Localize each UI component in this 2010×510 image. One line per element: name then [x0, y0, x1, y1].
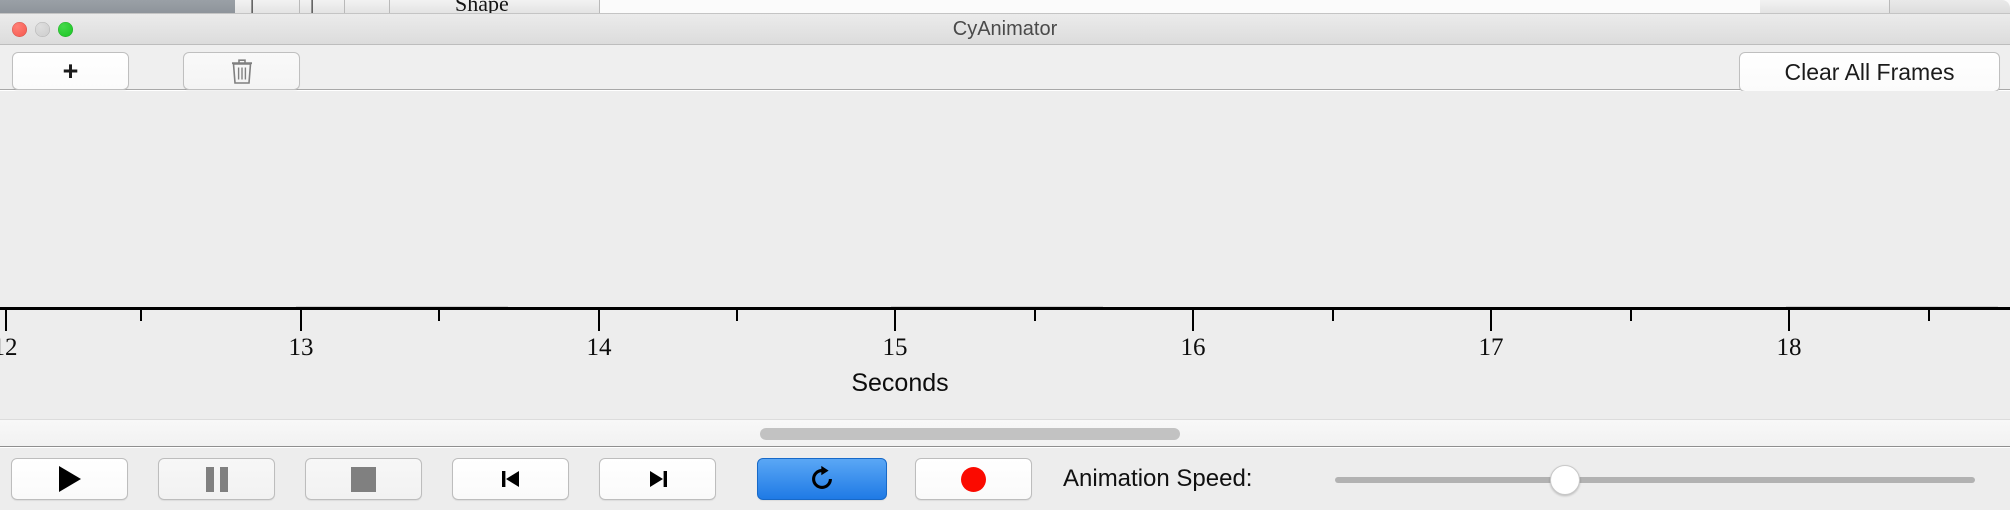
loop-button[interactable] — [757, 458, 887, 500]
axis-tick-label: 12 — [0, 334, 18, 362]
axis-tick-major — [5, 310, 7, 331]
slider-track[interactable] — [1335, 477, 1975, 483]
plus-icon: + — [63, 58, 79, 85]
axis-tick-label: 15 — [883, 334, 908, 362]
title-bar: CyAnimator — [0, 14, 2010, 45]
axis-tick-label: 13 — [289, 334, 314, 362]
background-glyph: | — [250, 0, 254, 14]
skip-start-button[interactable] — [452, 458, 569, 500]
axis-tick-label: 17 — [1479, 334, 1504, 362]
pause-icon — [206, 467, 228, 492]
clear-all-frames-button[interactable]: Clear All Frames — [1739, 52, 2000, 92]
play-icon — [59, 466, 81, 492]
window-title: CyAnimator — [0, 14, 2010, 45]
background-glyph: | — [310, 0, 314, 14]
record-button[interactable] — [915, 458, 1032, 500]
background-window-dark-panel — [0, 0, 235, 14]
add-frame-button[interactable]: + — [12, 52, 129, 90]
axis-tick-label: 14 — [587, 334, 612, 362]
animation-speed-label: Animation Speed: — [1063, 458, 1252, 500]
stop-icon — [351, 467, 376, 492]
scrollbar-thumb[interactable] — [760, 428, 1180, 440]
axis-tick-minor — [1332, 310, 1334, 321]
background-window-corner — [1890, 0, 2010, 14]
playback-toolbar: Animation Speed: — [0, 448, 2010, 510]
play-button[interactable] — [11, 458, 128, 500]
background-tab — [235, 0, 300, 14]
timeline-scrollbar[interactable] — [0, 419, 2010, 447]
axis-tick-major — [1192, 310, 1194, 331]
timeline-axis: 12 13 14 15 16 17 18 Seconds — [0, 307, 2010, 419]
slider-thumb[interactable] — [1550, 465, 1580, 495]
axis-tick-major — [1788, 310, 1790, 331]
record-icon — [961, 467, 986, 492]
skip-end-button[interactable] — [599, 458, 716, 500]
axis-tick-major — [598, 310, 600, 331]
cyanimator-window: | | Shape CyAnimator + Clear All Fr — [0, 0, 2010, 510]
background-tab — [1760, 0, 1890, 14]
axis-tick-label: 18 — [1777, 334, 1802, 362]
axis-tick-minor — [736, 310, 738, 321]
axis-tick-minor — [438, 310, 440, 321]
background-tab — [300, 0, 345, 14]
skip-to-end-icon — [645, 466, 671, 492]
stop-button[interactable] — [305, 458, 422, 500]
axis-tick-minor — [1630, 310, 1632, 321]
background-tab — [345, 0, 390, 14]
axis-tick-minor — [1034, 310, 1036, 321]
axis-tick-minor — [1928, 310, 1930, 321]
delete-frame-button[interactable] — [183, 52, 300, 90]
axis-tick-major — [894, 310, 896, 331]
animation-speed-slider[interactable] — [1335, 477, 1975, 483]
axis-title: Seconds — [0, 369, 2010, 398]
axis-title-text: Seconds — [851, 369, 948, 397]
background-window-label: Shape — [455, 0, 509, 14]
clear-all-frames-label: Clear All Frames — [1785, 59, 1955, 86]
axis-tick-minor — [140, 310, 142, 321]
axis-tick-label: 16 — [1181, 334, 1206, 362]
trash-icon — [231, 58, 253, 84]
axis-tick-major — [1490, 310, 1492, 331]
skip-to-start-icon — [498, 466, 524, 492]
timeline-track[interactable]: MCM1 — [0, 91, 2010, 308]
frame-toolbar: + Clear All Frames — [0, 45, 2010, 90]
background-window-strip: | | Shape — [0, 0, 2010, 14]
loop-icon — [808, 465, 836, 493]
axis-tick-major — [300, 310, 302, 331]
pause-button[interactable] — [158, 458, 275, 500]
